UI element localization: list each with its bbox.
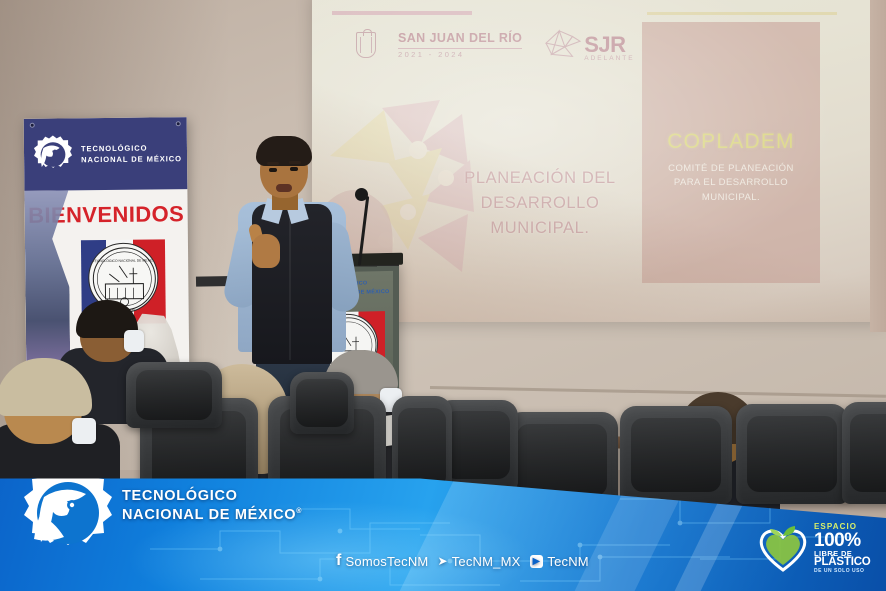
banner-header-line-2: NACIONAL DE MÉXICO (81, 153, 182, 165)
slide-title-line-3: MUNICIPAL. (430, 216, 650, 241)
speaker-brow-right (289, 161, 301, 164)
banner-header-text: TECNOLÓGICO NACIONAL DE MÉXICO (81, 142, 182, 166)
audience-face-mask (124, 330, 144, 352)
copladem-acronym: COPLADEM (642, 130, 820, 154)
copladem-subtitle-line-1: COMITÉ DE PLANEACIÓN (652, 162, 810, 176)
sjr-lockup: SJR ADELANTE (584, 35, 634, 62)
sjr-shield-icon (356, 32, 376, 58)
screen-right-edge (870, 0, 886, 332)
auditorium-seat (126, 362, 222, 428)
speaker-eye-left (269, 168, 277, 172)
sjr-acronym: SJR (584, 35, 634, 56)
auditorium-seat (842, 402, 886, 504)
tecnm-brand-line-2: NACIONAL DE MÉXICO (122, 507, 296, 523)
tecnm-gear-aztec-icon (34, 134, 72, 174)
twitter-icon: ➤ (437, 554, 447, 568)
copladem-subtitle: COMITÉ DE PLANEACIÓN PARA EL DESARROLLO … (652, 162, 810, 205)
tecnm-brand-line-2-wrap: NACIONAL DE MÉXICO® (122, 506, 302, 525)
plastic-badge-text: ESPACIO 100% LIBRE DE PLÁSTICO DE UN SOL… (814, 523, 871, 574)
speaker-hand (252, 234, 280, 268)
municipality-years: 2021 - 2024 (398, 48, 522, 59)
copladem-subtitle-line-2: PARA EL DESARROLLO (652, 176, 810, 190)
slide-title-line-1: PLANEACIÓN DEL (430, 166, 650, 191)
sjr-brand-mark: SJR ADELANTE (544, 28, 634, 62)
auditorium-seat (620, 406, 732, 504)
banner-grommet-left (30, 123, 35, 128)
speaker-mouth (276, 184, 292, 192)
speaker-hair (256, 136, 312, 166)
municipality-name: SAN JUAN DEL RÍO (398, 32, 522, 45)
banner-grommet-right (176, 121, 181, 126)
twitter-handle-label: TecNM_MX (452, 554, 521, 569)
facebook-icon: f (336, 552, 342, 570)
twitter-handle[interactable]: ➤ TecNM_MX (437, 554, 520, 569)
plastic-line-2: 100% (814, 531, 871, 550)
banner-header: TECNOLÓGICO NACIONAL DE MÉXICO (24, 117, 188, 191)
copladem-panel: COPLADEM COMITÉ DE PLANEACIÓN PARA EL DE… (642, 22, 820, 283)
municipality-name-block: SAN JUAN DEL RÍO 2021 - 2024 (398, 32, 522, 58)
auditorium-seat (290, 372, 354, 434)
facebook-handle[interactable]: f SomosTecNM (336, 552, 428, 570)
sjr-origami-bird-icon (544, 28, 582, 62)
copladem-subtitle-line-3: MUNICIPAL. (652, 191, 810, 205)
sjr-tagline: ADELANTE (584, 56, 634, 62)
plastic-line-5: DE UN SOLO USO (814, 569, 871, 574)
slide-rule-pink (332, 11, 472, 15)
speaker-eye-right (290, 167, 298, 171)
slide-header: SAN JUAN DEL RÍO 2021 - 2024 SJR ADELANT… (356, 28, 635, 62)
youtube-handle-label: TecNM (547, 554, 588, 569)
social-handles: f SomosTecNM ➤ TecNM_MX ▶ TecNM (336, 552, 589, 570)
registered-mark: ® (296, 509, 302, 516)
audience-face-mask (72, 418, 96, 444)
slide-rule-yellow (647, 12, 837, 15)
auditorium-seat (736, 404, 848, 504)
tecnm-brand-line-1: TECNOLÓGICO (122, 487, 302, 506)
green-heart-leaf-icon (756, 522, 810, 574)
youtube-handle[interactable]: ▶ TecNM (530, 554, 589, 569)
slide-title-line-2: DESARROLLO (430, 191, 650, 216)
speaker-brow-left (267, 162, 279, 165)
plastic-line-4: PLÁSTICO (814, 557, 871, 569)
facebook-handle-label: SomosTecNM (346, 554, 429, 569)
plastic-free-badge: ESPACIO 100% LIBRE DE PLÁSTICO DE UN SOL… (756, 517, 876, 579)
youtube-icon: ▶ (530, 555, 544, 568)
tecnm-gear-aztec-icon (22, 465, 114, 561)
tecnm-brand-text: TECNOLÓGICO NACIONAL DE MÉXICO® (122, 487, 302, 526)
speaker-vest (252, 204, 332, 364)
audience-hair (0, 358, 92, 416)
slide-title: PLANEACIÓN DEL DESARROLLO MUNICIPAL. (430, 166, 650, 241)
screenshot-stage: SAN JUAN DEL RÍO 2021 - 2024 SJR ADELANT… (0, 0, 886, 591)
svg-text:TECNOLOGICO NACIONAL DE MEXICO: TECNOLOGICO NACIONAL DE MEXICO (93, 258, 157, 263)
